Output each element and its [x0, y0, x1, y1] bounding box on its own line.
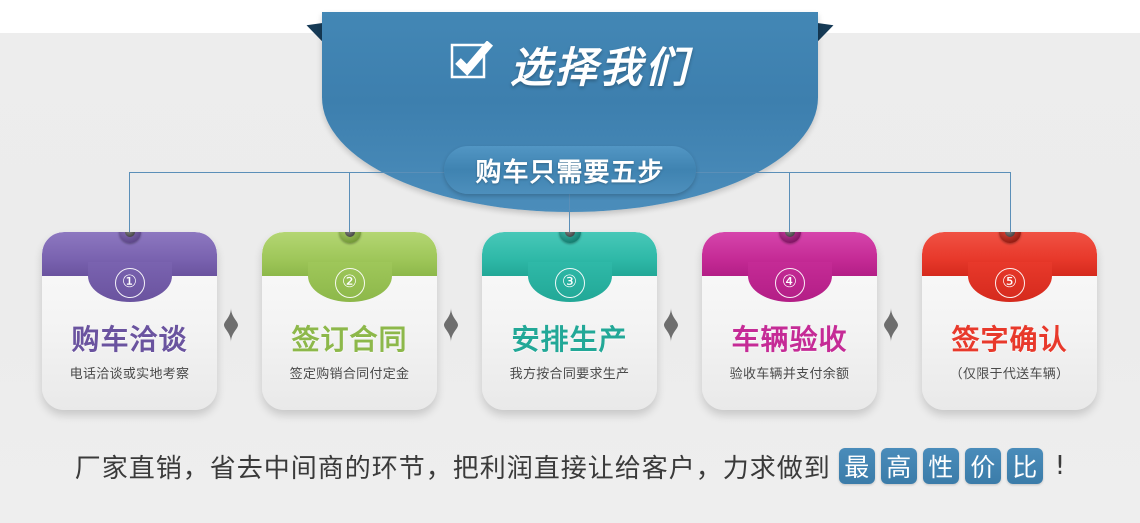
footer-tagline: 厂家直销，省去中间商的环节，把利润直接让给客户，力求做到 最 高 性 价 比 !	[0, 440, 1140, 492]
step-separator-arrow-3	[662, 308, 680, 342]
steps-headline-pill: 购车只需要五步	[444, 146, 696, 194]
step-card-3[interactable]: ③ 安排生产 我方按合同要求生产	[482, 232, 657, 410]
step-separator-arrow-2	[442, 308, 460, 342]
step-subtitle-2: 签定购销合同付定金	[262, 363, 437, 382]
footer-lead-text: 厂家直销，省去中间商的环节，把利润直接让给客户，力求做到	[75, 448, 831, 485]
step-number-5: ⑤	[995, 268, 1025, 298]
footer-highlight-char-1: 最	[839, 448, 875, 484]
checkbox-checked-icon	[450, 41, 494, 83]
steps-row: ① 购车洽谈 电话洽谈或实地考察 ② 签订合同 签定购销合同付定金 ③ 安排生产	[0, 232, 1140, 412]
footer-trailing-text: !	[1055, 451, 1065, 481]
step-subtitle-4: 验收车辆并支付余额	[702, 363, 877, 382]
step-number-1: ①	[115, 268, 145, 298]
step-title-3: 安排生产	[482, 318, 657, 358]
step-number-2: ②	[335, 268, 365, 298]
step-subtitle-5: （仅限于代送车辆）	[922, 363, 1097, 382]
step-number-4: ④	[775, 268, 805, 298]
step-card-5[interactable]: ⑤ 签字确认 （仅限于代送车辆）	[922, 232, 1097, 410]
step-title-4: 车辆验收	[702, 318, 877, 358]
footer-highlight-char-4: 价	[965, 448, 1001, 484]
step-title-2: 签订合同	[262, 318, 437, 358]
footer-highlight-char-3: 性	[923, 448, 959, 484]
step-subtitle-3: 我方按合同要求生产	[482, 363, 657, 382]
footer-highlight-char-5: 比	[1007, 448, 1043, 484]
step-separator-arrow-4	[882, 308, 900, 342]
step-number-3: ③	[555, 268, 585, 298]
step-subtitle-1: 电话洽谈或实地考察	[42, 363, 217, 382]
step-title-5: 签字确认	[922, 318, 1097, 358]
page-title: 选择我们	[510, 34, 690, 95]
step-separator-arrow-1	[222, 308, 240, 342]
footer-highlight-group: 最 高 性 价 比	[839, 448, 1043, 484]
step-card-2[interactable]: ② 签订合同 签定购销合同付定金	[262, 232, 437, 410]
steps-headline-label: 购车只需要五步	[475, 152, 664, 189]
footer-highlight-char-2: 高	[881, 448, 917, 484]
header-banner: 选择我们	[322, 12, 818, 116]
step-card-4[interactable]: ④ 车辆验收 验收车辆并支付余额	[702, 232, 877, 410]
step-card-1[interactable]: ① 购车洽谈 电话洽谈或实地考察	[42, 232, 217, 410]
step-title-1: 购车洽谈	[42, 318, 217, 358]
infographic-banner: 选择我们 购车只需要五步 ① 购车洽谈 电话洽谈或实地考察	[0, 0, 1140, 523]
